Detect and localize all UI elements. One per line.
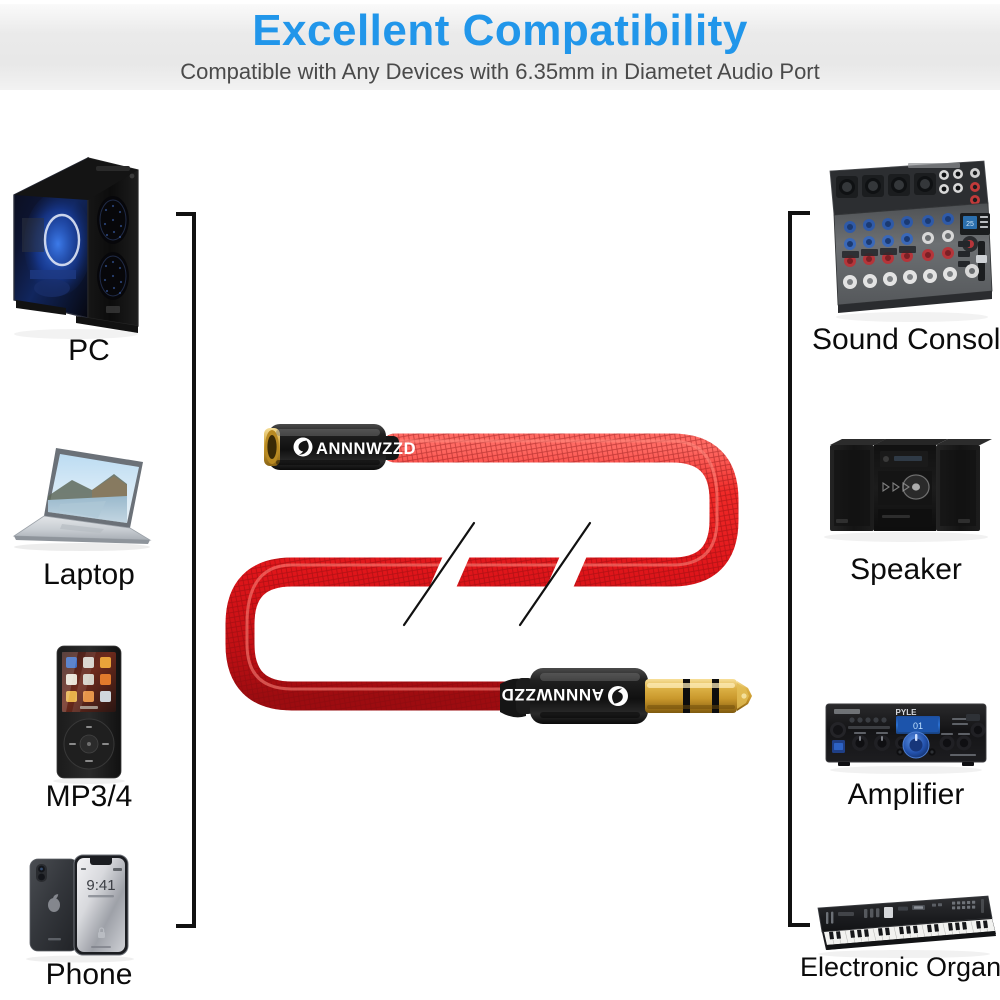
device-phone-label: Phone [0,958,178,992]
right-bracket-top-arm [790,211,810,215]
mp3-player-icon [0,640,178,785]
left-bracket [176,212,198,928]
svg-text:ANNNWZZD: ANNNWZZD [501,685,604,704]
laptop-icon [0,440,178,560]
device-mp3: MP3/4 [0,640,178,820]
desktop-pc-tower-icon [0,140,178,340]
left-bracket-bottom-arm [176,924,196,928]
mixing-console-icon: 25 [812,145,1000,325]
hifi-speaker-system-icon [812,425,1000,555]
svg-text:01: 01 [913,721,923,731]
device-speaker-label: Speaker [812,553,1000,587]
device-laptop: Laptop [0,440,178,600]
cable-braid-path [240,441,724,696]
svg-text:9:41: 9:41 [86,877,115,894]
device-pc: PC [0,140,178,380]
cable-break-marks [404,523,590,625]
device-electronic-organ: Electronic Organ [800,890,1000,1000]
left-bracket-spine [192,212,196,928]
amplifier-icon: PYLE [812,690,1000,780]
smartphone-icon: 9:41 [0,845,178,965]
device-laptop-label: Laptop [0,558,178,592]
device-sound-console: 25 [812,145,1000,370]
female-connector: ANNNWZZD [264,424,416,470]
svg-text:ANNNWZZD: ANNNWZZD [316,440,416,458]
infographic-page: Excellent Compatibility Compatible with … [0,0,1000,1000]
device-phone: 9:41 Phone [0,845,178,1000]
right-bracket [788,211,810,927]
device-electronic-organ-label: Electronic Organ [800,952,1000,983]
device-amplifier-label: Amplifier [812,778,1000,812]
device-sound-console-label: Sound Console [812,323,1000,357]
device-amplifier: PYLE [812,690,1000,820]
device-speaker: Speaker [812,425,1000,595]
device-pc-label: PC [0,334,178,368]
page-subtitle: Compatible with Any Devices with 6.35mm … [0,58,1000,86]
svg-text:PYLE: PYLE [896,708,918,717]
male-plug-connector: ANNNWZZD [500,668,752,724]
right-bracket-spine [788,211,792,927]
svg-text:25: 25 [966,221,974,228]
page-title: Excellent Compatibility [0,5,1000,57]
device-mp3-label: MP3/4 [0,780,178,814]
